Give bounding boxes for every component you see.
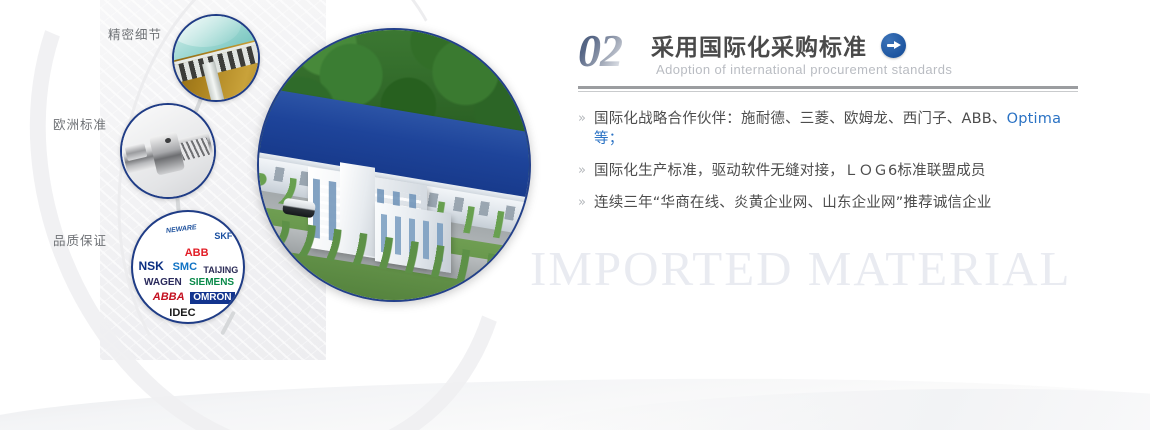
hero-factory-photo[interactable] — [257, 28, 531, 302]
divider-thick — [578, 86, 1078, 89]
chevron-bullet-icon: » — [578, 109, 594, 129]
brand-logo-smc: SMC — [173, 262, 197, 273]
feature-circle-quality-brands[interactable]: NEWARESKFABBNSKSMCTAIJINGWAGENSIEMENSABB… — [131, 210, 245, 324]
brand-logo-wagen: WAGEN — [144, 278, 182, 288]
promo-banner: NEWARESKFABBNSKSMCTAIJINGWAGENSIEMENSABB… — [0, 0, 1150, 430]
brand-logo-cloud: NEWARESKFABBNSKSMCTAIJINGWAGENSIEMENSABB… — [133, 212, 243, 322]
watermark-text: IMPORTED MATERIAL — [530, 240, 1071, 297]
title-row: 采用国际化采购标准 — [651, 28, 906, 62]
list-item: » 连续三年“华商在线、炎黄企业网、山东企业网”推荐诚信企业 — [578, 193, 1078, 213]
feature-label-precision-detail: 精密细节 — [108, 24, 162, 43]
list-item: » 国际化战略合作伙伴：施耐德、三菱、欧姆龙、西门子、ABB、Optima等； — [578, 109, 1078, 149]
bullet-text-1-main: 国际化战略合作伙伴：施耐德、三菱、欧姆龙、西门子、ABB、 — [594, 111, 1007, 127]
brand-logo-abb: ABB — [185, 248, 209, 259]
feature-label-european-standard: 欧洲标准 — [53, 114, 107, 133]
swoosh-band-primary — [0, 372, 1150, 430]
list-item: » 国际化生产标准，驱动软件无缝对接，ＬＯＧ6标准联盟成员 — [578, 161, 1078, 181]
header-divider — [578, 86, 1078, 92]
bullet-text-3: 连续三年“华商在线、炎黄企业网、山东企业网”推荐诚信企业 — [594, 193, 992, 213]
feature-circle-precision-detail[interactable] — [172, 14, 260, 102]
chevron-bullet-icon: » — [578, 193, 594, 213]
brand-logo-abba: ABBA — [153, 292, 185, 303]
brand-logo-neware: NEWARE — [166, 224, 197, 235]
bottom-swoosh-decoration — [0, 372, 1150, 430]
section-number: 02 — [578, 24, 622, 77]
feature-bullet-list: » 国际化战略合作伙伴：施耐德、三菱、欧姆龙、西门子、ABB、Optima等； … — [578, 109, 1078, 213]
bullet-text-2: 国际化生产标准，驱动软件无缝对接，ＬＯＧ6标准联盟成员 — [594, 161, 986, 181]
feature-circle-european-standard[interactable] — [120, 103, 216, 199]
brand-logo-skf: SKF — [214, 232, 232, 241]
arrow-right-icon[interactable] — [881, 33, 906, 58]
swoosh-band-secondary — [539, 381, 1150, 430]
bullet-text-1: 国际化战略合作伙伴：施耐德、三菱、欧姆龙、西门子、ABB、Optima等； — [594, 109, 1078, 149]
section-subtitle: Adoption of international procurement st… — [656, 62, 952, 77]
chevron-bullet-icon: » — [578, 161, 594, 181]
page-title: 采用国际化采购标准 — [651, 28, 867, 62]
divider-thin — [578, 91, 1078, 92]
brand-logo-idec: IDEC — [169, 308, 195, 319]
content-column: 02 采用国际化采购标准 Adoption of international p… — [578, 20, 1078, 225]
brand-logo-omron: OMRON — [190, 292, 234, 304]
section-header: 02 采用国际化采购标准 Adoption of international p… — [578, 20, 1078, 82]
brand-logo-nsk: NSK — [139, 260, 164, 272]
feature-label-quality-assurance: 品质保证 — [53, 230, 107, 249]
brand-logo-siemens: SIEMENS — [189, 278, 234, 288]
brand-logo-taijing: TAIJING — [203, 266, 238, 275]
